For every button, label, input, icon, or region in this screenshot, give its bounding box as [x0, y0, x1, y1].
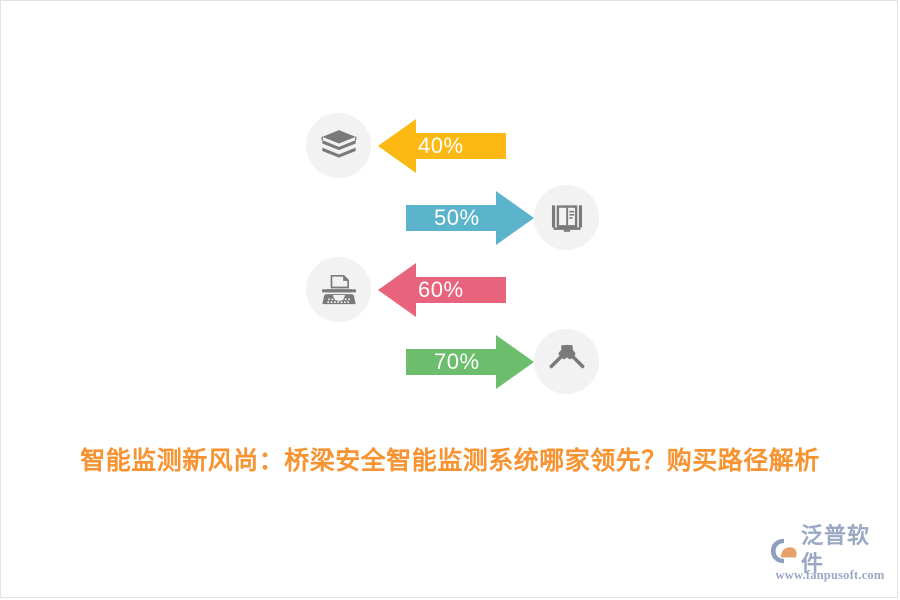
open-book-icon-badge — [534, 185, 599, 250]
fanpu-logo-mark-icon — [769, 537, 799, 565]
logo-website-url: www.fanpusoft.com — [769, 568, 891, 583]
diagram-row: 60% — [306, 253, 606, 325]
crossed-hammers-icon-badge — [534, 329, 599, 394]
typewriter-icon-badge — [306, 257, 371, 322]
book-stack-icon — [319, 126, 359, 166]
arrow-percent-label: 50% — [434, 191, 480, 245]
watermark-logo: 泛普软件 www.fanpusoft.com — [769, 535, 891, 587]
open-book-icon — [548, 199, 586, 237]
crossed-hammers-icon — [547, 342, 587, 382]
arrow-percent-label: 60% — [418, 263, 464, 317]
page-title: 智能监测新风尚：桥梁安全智能监测系统哪家领先？购买路径解析 — [1, 441, 898, 477]
infographic-page: 40% — [0, 0, 898, 598]
arrow-percent-label: 40% — [418, 119, 464, 173]
diagram-row: 40% — [306, 109, 606, 181]
typewriter-icon — [319, 270, 359, 310]
diagram-row: 50% — [306, 181, 606, 253]
book-stack-icon-badge — [306, 113, 371, 178]
logo-row: 泛普软件 — [769, 535, 891, 567]
diagram-row: 70% — [306, 325, 606, 397]
arrow-percent-label: 70% — [434, 335, 480, 389]
arrow-flow-diagram: 40% — [306, 109, 606, 397]
